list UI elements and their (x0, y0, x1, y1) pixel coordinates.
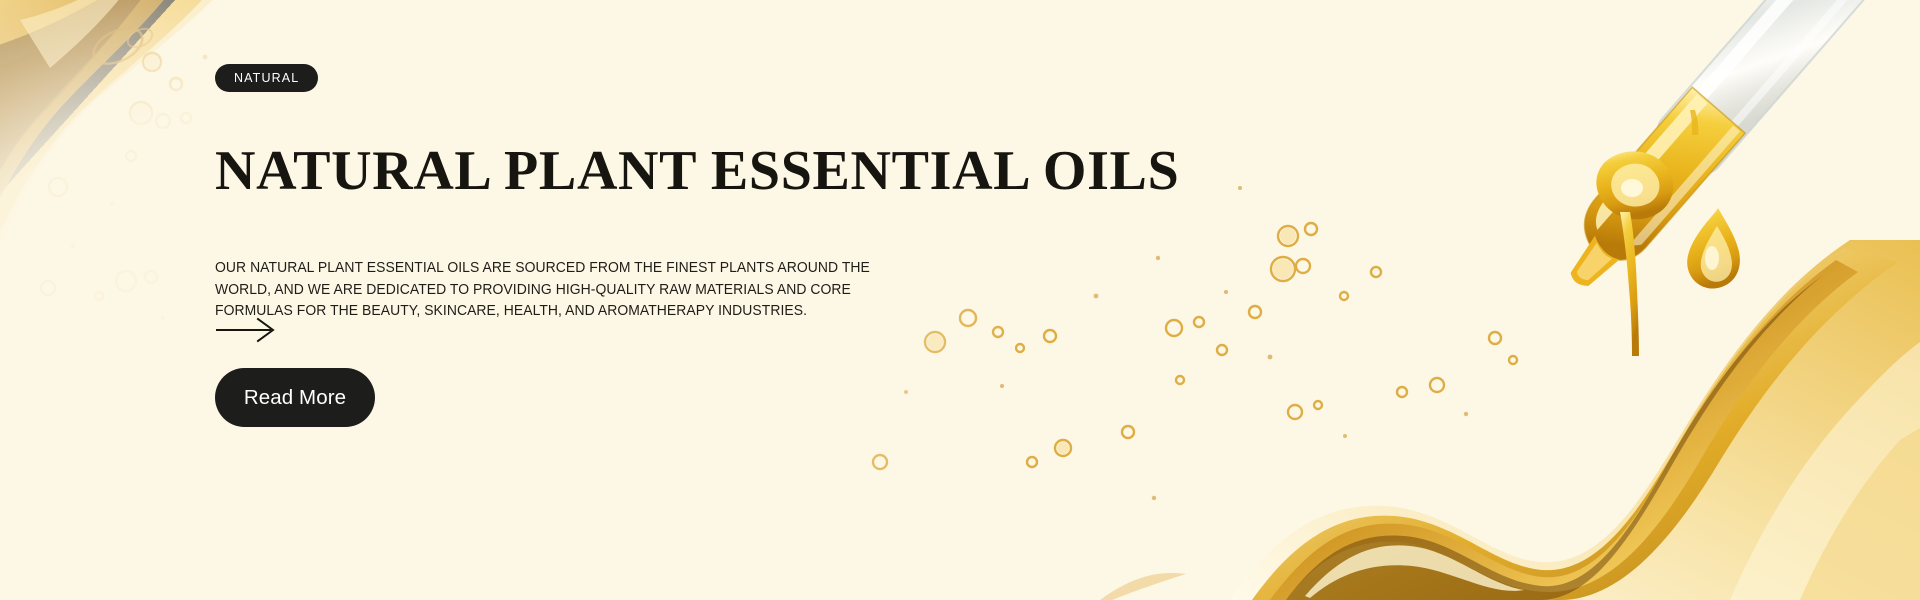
hero-banner: NATURAL NATURAL PLANT ESSENTIAL OILS OUR… (0, 0, 1920, 600)
glass-pipette-dropper-icon (1300, 0, 1920, 400)
status-badge: NATURAL (215, 64, 318, 92)
hero-content: NATURAL NATURAL PLANT ESSENTIAL OILS OUR… (215, 0, 995, 600)
hero-description: OUR NATURAL PLANT ESSENTIAL OILS ARE SOU… (215, 258, 910, 323)
read-more-button[interactable]: Read More (215, 368, 375, 427)
page-title: NATURAL PLANT ESSENTIAL OILS (215, 142, 1179, 200)
arrow-right-icon[interactable] (215, 316, 281, 344)
